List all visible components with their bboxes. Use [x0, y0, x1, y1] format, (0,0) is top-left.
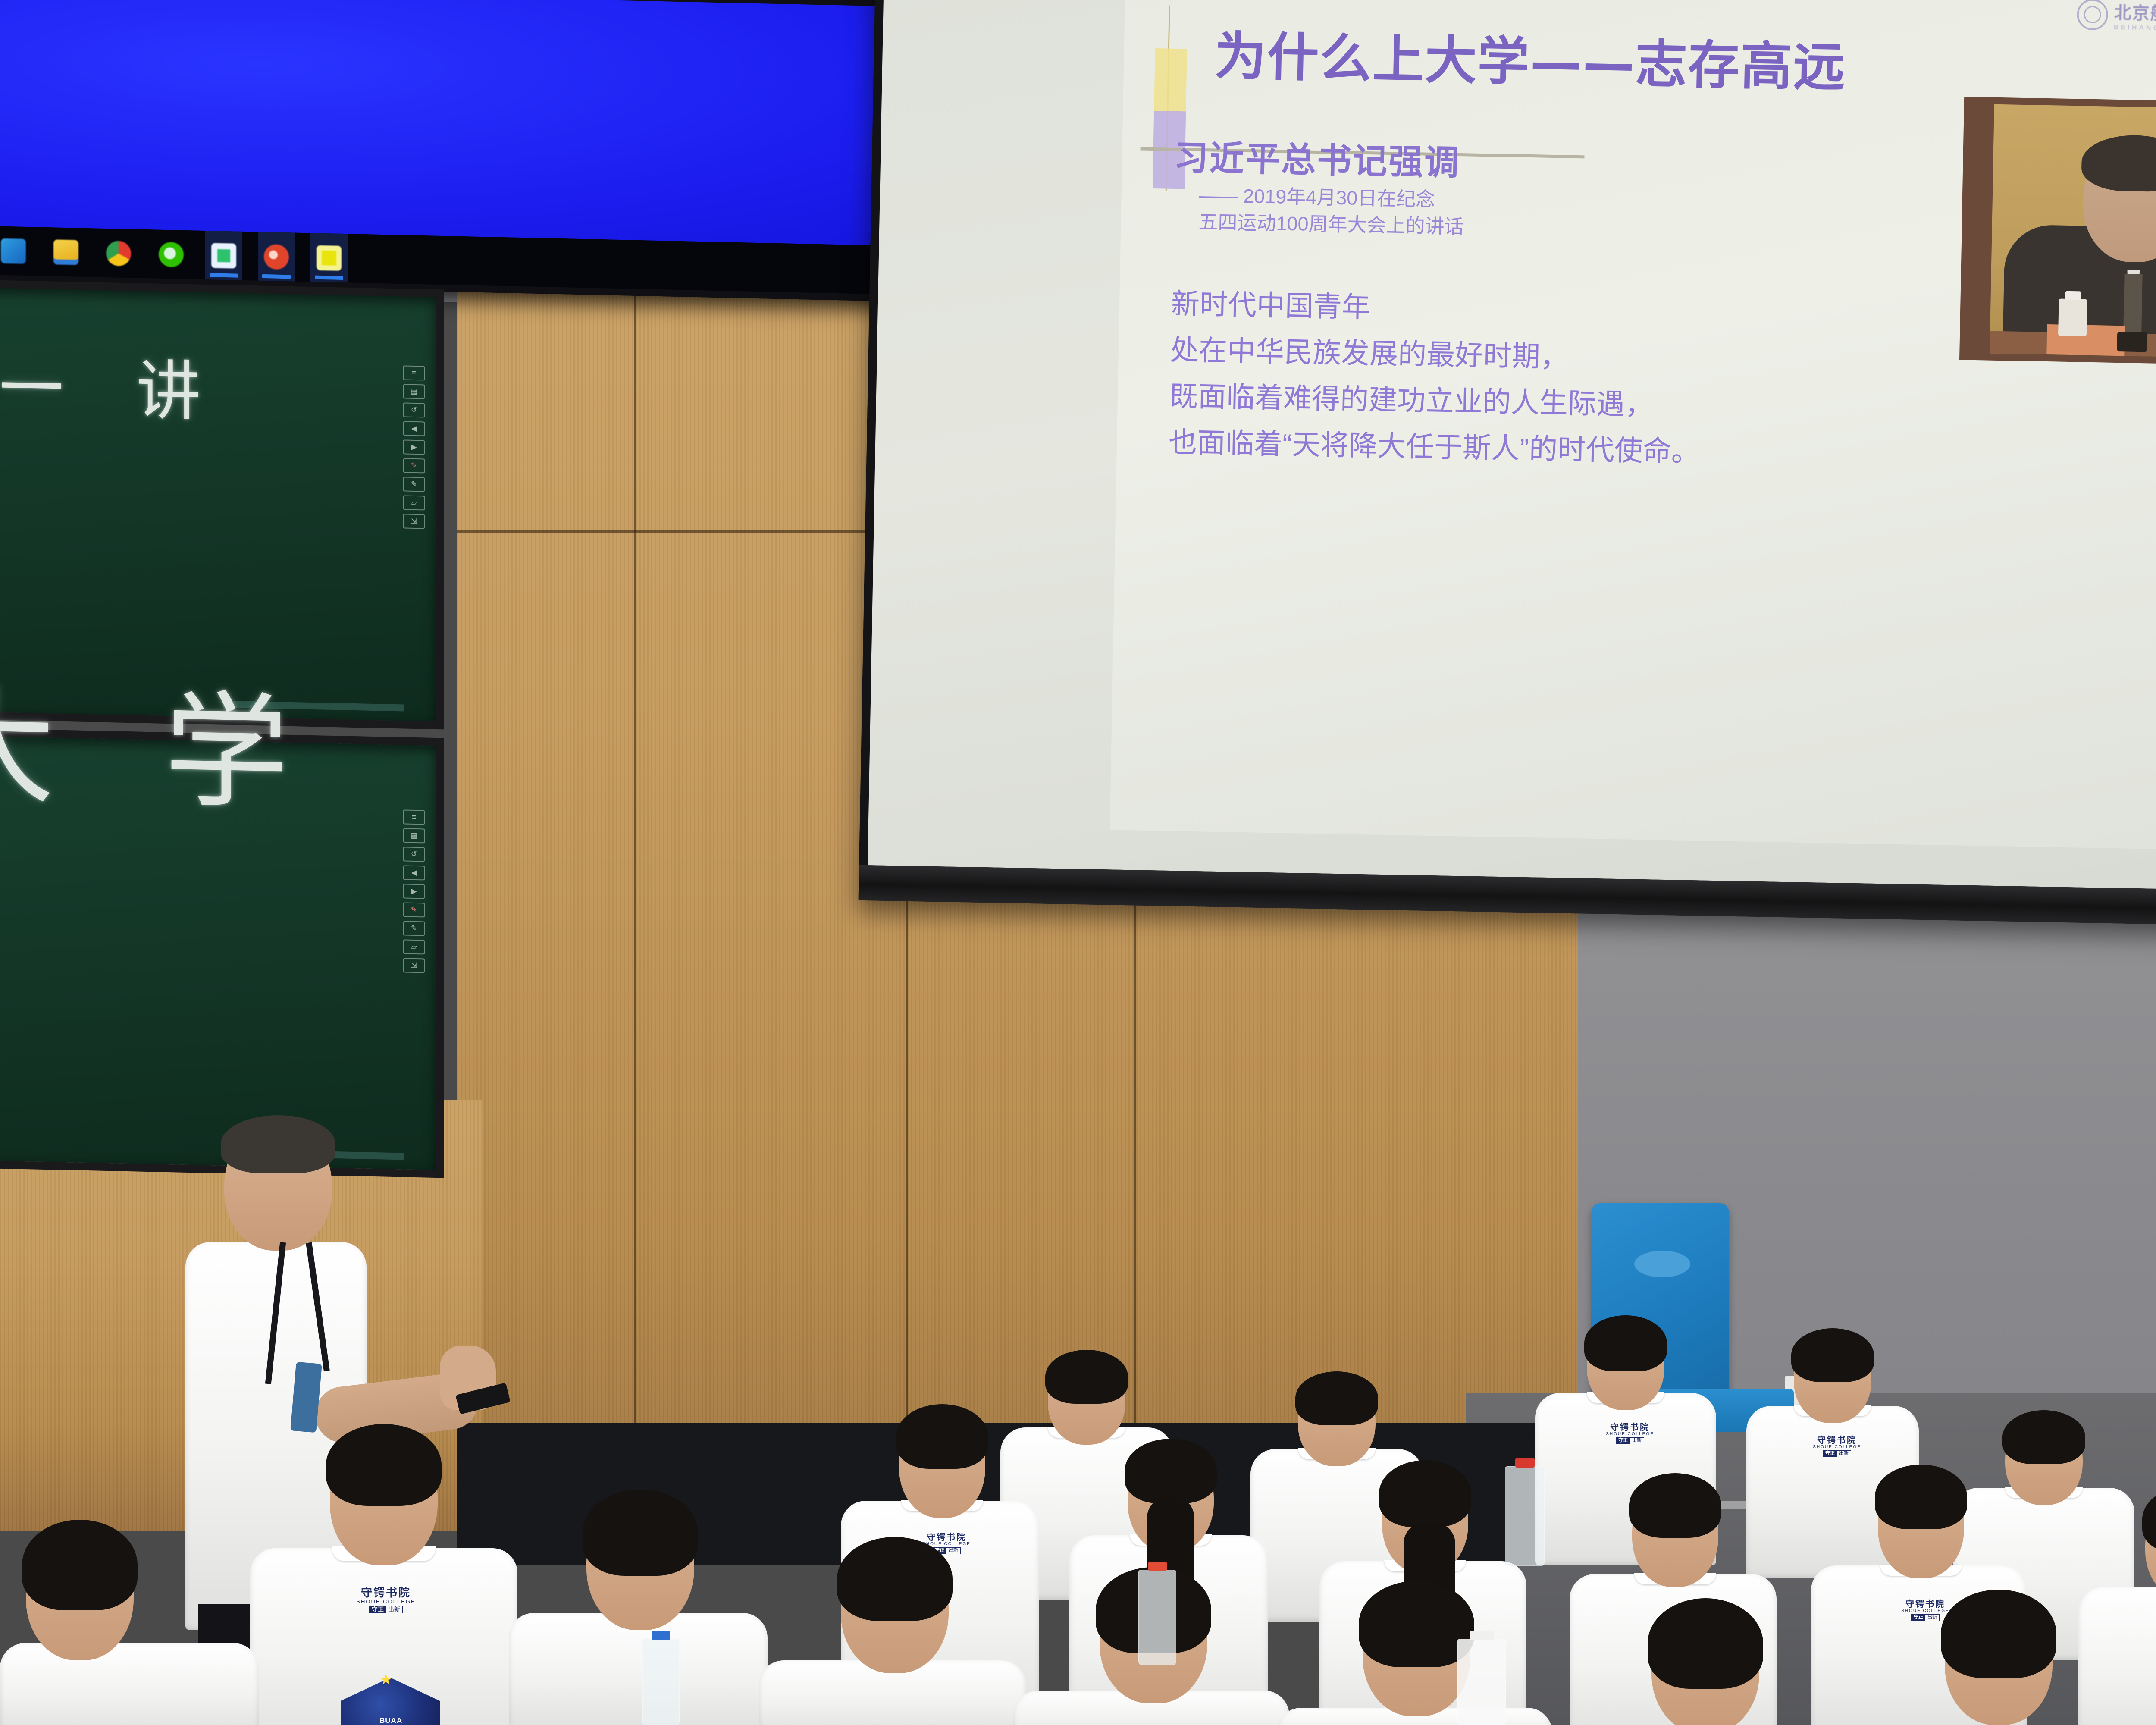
blackboard-lower[interactable]: 大 学 ≡ ▤ ↺ ◀ ▶ ✎ ✎ ▱ ⇲: [0, 728, 444, 1178]
logo-name-en: BEIHANG UNIVERSITY: [2114, 24, 2156, 34]
wps-presentation-icon: [264, 244, 289, 270]
red-pen-button[interactable]: ✎: [403, 458, 425, 473]
presenter-hair: [221, 1115, 335, 1173]
uniform-motto-left: 守正: [370, 1606, 386, 1613]
projection-screen: 北京航空航天大学 BEIHANG UNIVERSITY 为什么上大学——志存高远…: [859, 0, 2156, 928]
taskbar-icon-wps-spreadsheet[interactable]: [310, 233, 348, 282]
uniform-college-en: SHOUE COLLEGE: [334, 1599, 438, 1605]
university-logo: 北京航空航天大学 BEIHANG UNIVERSITY: [2077, 0, 2156, 34]
board-undo-button[interactable]: ↺: [403, 402, 425, 417]
screen-canvas: 北京航空航天大学 BEIHANG UNIVERSITY 为什么上大学——志存高远…: [868, 0, 2156, 893]
student-hair: [837, 1537, 953, 1621]
red-pen-button-2[interactable]: ✎: [403, 902, 425, 917]
chalk-text-lower: 大 学: [0, 644, 323, 834]
uniform-college-cn: 守锷书院: [1798, 1436, 1876, 1445]
bottle-cap: [1515, 1458, 1535, 1468]
slide-title: 为什么上大学——志存高远: [1214, 14, 1846, 101]
student-row1-g: [1561, 1596, 1846, 1725]
student-row1-a: 守锷书院 SHOUE COLLEGE 守正 出新 BUAA ★: [250, 1419, 517, 1725]
slide-subtitle: 习近平总书记强调: [1173, 130, 1460, 185]
logo-name-cn: 北京航空航天大学: [2114, 0, 2156, 26]
citation-line-2: 五四运动100周年大会上的讲话: [1198, 209, 1464, 240]
uniform-motto-right: 出新: [1630, 1438, 1644, 1443]
portrait-inner: [1990, 104, 2156, 359]
board-prev-button-2[interactable]: ◀: [403, 865, 425, 880]
student-row1-f: [1276, 1578, 1552, 1725]
board-page-button[interactable]: ▤: [403, 384, 425, 399]
board-next-button-2[interactable]: ▶: [403, 884, 425, 899]
blackboard-controls-lower[interactable]: ≡ ▤ ↺ ◀ ▶ ✎ ✎ ▱ ⇲: [403, 809, 425, 973]
board-page-button-2[interactable]: ▤: [403, 828, 425, 843]
bottle-cap: [1470, 1631, 1494, 1640]
lecture-hall-scene: ∧ ◐ ◂ 中 13:16 2023-09-13 ⏢ 一 讲 ≡ ▤ ↺ ◀ ▶…: [0, 0, 2156, 1725]
wechat-icon: [159, 241, 184, 267]
uniform-motto-right: 出新: [386, 1606, 402, 1613]
citation-line-1: —— 2019年4月30日在纪念: [1199, 182, 1464, 213]
white-pen-button-2[interactable]: ✎: [403, 921, 425, 936]
wps-writer-icon: [211, 243, 236, 268]
student-hair: [1941, 1590, 2056, 1678]
blackboard-controls-upper[interactable]: ≡ ▤ ↺ ◀ ▶ ✎ ✎ ▱ ⇲: [403, 365, 425, 529]
student-hair: [1584, 1315, 1667, 1371]
body-line-4: 也面临着“天将降大任于斯人”的时代使命。: [1168, 419, 1700, 474]
uniform-motto: 守正 出新: [369, 1606, 403, 1614]
taskbar-icon-file-explorer[interactable]: [47, 227, 85, 277]
bottle-cap: [1148, 1562, 1167, 1571]
taskbar-icon-windows-start[interactable]: [0, 226, 32, 276]
student-hair: [22, 1520, 138, 1610]
student-hair: [1875, 1465, 1967, 1529]
uniform-motto-left: 守正: [1616, 1438, 1630, 1443]
student-row1-d: [759, 1535, 1026, 1725]
student-hair: [1379, 1460, 1471, 1527]
water-bottle-1: [1505, 1466, 1545, 1566]
uniform-college-en: SHOUE COLLEGE: [1591, 1432, 1669, 1436]
uniform-logo: 守锷书院 SHOUE COLLEGE 守正 出新: [1591, 1423, 1669, 1444]
share-button[interactable]: ⇲: [403, 514, 425, 529]
board-menu-button[interactable]: ≡: [403, 365, 425, 380]
taskbar-icon-wechat[interactable]: [153, 229, 190, 279]
uniform-motto: 守正 出新: [1823, 1450, 1851, 1457]
eraser-button-2[interactable]: ▱: [403, 939, 425, 954]
uniform-motto-left: 守正: [1823, 1451, 1837, 1456]
student-row1-c: [0, 1518, 259, 1725]
chalk-text-upper: 一 讲: [0, 336, 227, 434]
student-hair: [326, 1424, 442, 1506]
bottle-cap: [652, 1631, 670, 1640]
board-prev-button[interactable]: ◀: [403, 421, 425, 436]
student-hair: [2002, 1410, 2085, 1464]
chrome-icon: [106, 241, 131, 266]
slide-citation: —— 2019年4月30日在纪念 五四运动100周年大会上的讲话: [1198, 182, 1464, 240]
wps-spreadsheet-icon: [317, 245, 342, 270]
uniform-college-en: SHOUE COLLEGE: [1798, 1445, 1876, 1449]
presentation-slide: 北京航空航天大学 BEIHANG UNIVERSITY 为什么上大学——志存高远…: [1110, 0, 2156, 853]
buaa-graphic-label: BUAA: [379, 1716, 402, 1725]
student-hair: [1648, 1598, 1763, 1689]
file-explorer-icon: [53, 239, 78, 265]
student-hair: [1045, 1350, 1128, 1404]
water-bottle-2: [1138, 1570, 1176, 1665]
eraser-button[interactable]: ▱: [403, 495, 425, 510]
uniform-college-cn: 守锷书院: [334, 1587, 438, 1599]
slide-portrait-photo: [1959, 97, 2156, 366]
student-hair: [583, 1490, 698, 1576]
board-undo-button-2[interactable]: ↺: [403, 847, 425, 862]
student-shirt: [0, 1643, 259, 1725]
uniform-motto-right: 出新: [1837, 1451, 1851, 1456]
uniform-logo: 守锷书院 SHOUE COLLEGE 守正 出新: [1798, 1436, 1876, 1457]
student-hair: [1295, 1371, 1378, 1425]
board-menu-button-2[interactable]: ≡: [403, 809, 425, 825]
taskbar-icon-wps-writer[interactable]: [205, 231, 242, 280]
student-hair: [1629, 1473, 1721, 1538]
share-button-2[interactable]: ⇲: [403, 958, 425, 973]
slide-body-text: 新时代中国青年 处在中华民族发展的最好时期， 既面临着难得的建功立业的人生际遇，…: [1168, 281, 1703, 475]
board-next-button[interactable]: ▶: [403, 439, 425, 455]
white-pen-button[interactable]: ✎: [403, 477, 425, 492]
wood-seam-1: [634, 267, 636, 1561]
star-icon: ★: [379, 1671, 392, 1688]
student-hair: [1125, 1439, 1217, 1503]
taskbar-icon-wps-presentation[interactable]: [258, 232, 295, 282]
student-hair: [1359, 1581, 1474, 1667]
uniform-logo: 守锷书院 SHOUE COLLEGE 守正 出新: [334, 1587, 438, 1613]
student-row1-b: [509, 1488, 768, 1725]
windows-start-icon: [1, 238, 26, 263]
student-hair: [896, 1404, 988, 1469]
beihang-seal-icon: [2077, 0, 2108, 30]
student-row1-h: [1854, 1587, 2139, 1725]
thermos-bottle: [1457, 1639, 1506, 1725]
chair-handle-hole: [1634, 1251, 1690, 1277]
student-hair: [2142, 1486, 2156, 1553]
water-bottle-3: [642, 1639, 680, 1725]
uniform-college-cn: 守锷书院: [1591, 1423, 1669, 1432]
uniform-motto: 守正 出新: [1616, 1437, 1644, 1444]
student-hair: [1791, 1328, 1874, 1382]
taskbar-icon-google-chrome[interactable]: [100, 229, 137, 278]
